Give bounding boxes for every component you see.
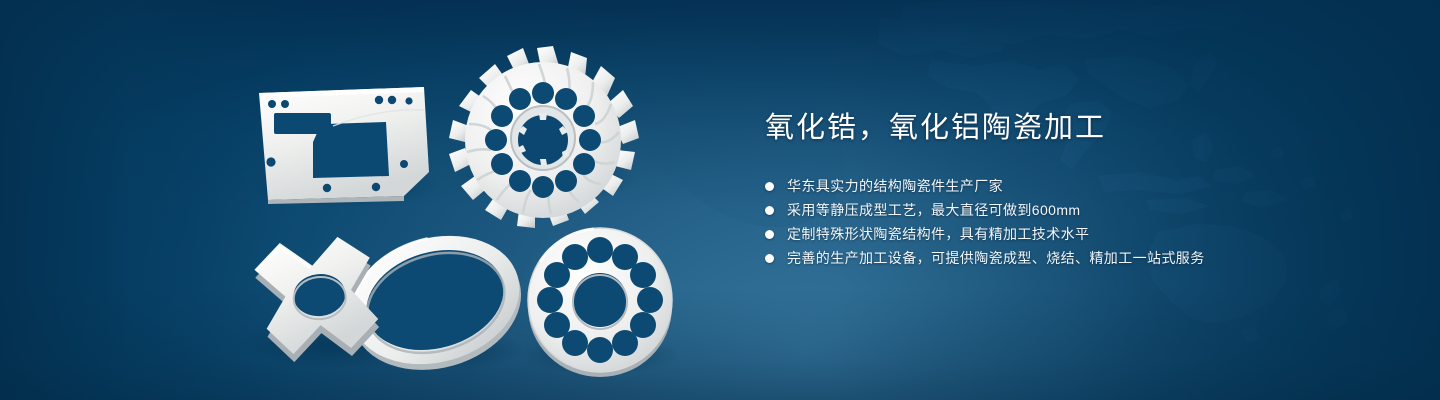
- ceramic-perforated-disc-part: [528, 228, 672, 377]
- feature-text: 完善的生产加工设备，可提供陶瓷成型、烧结、精加工一站式服务: [787, 246, 1205, 270]
- ceramic-impeller-part: [449, 46, 639, 228]
- ceramic-plate-part: [259, 87, 429, 204]
- bullet-dot-icon: [765, 230, 774, 239]
- feature-text: 定制特殊形状陶瓷结构件，具有精加工技术水平: [787, 222, 1089, 246]
- banner-copy: 氧化锆，氧化铝陶瓷加工 华东具实力的结构陶瓷件生产厂家 采用等静压成型工艺，最大…: [765, 108, 1385, 270]
- list-item: 完善的生产加工设备，可提供陶瓷成型、烧结、精加工一站式服务: [765, 246, 1385, 270]
- list-item: 华东具实力的结构陶瓷件生产厂家: [765, 174, 1385, 198]
- list-item: 定制特殊形状陶瓷结构件，具有精加工技术水平: [765, 222, 1385, 246]
- feature-text: 华东具实力的结构陶瓷件生产厂家: [787, 174, 1003, 198]
- list-item: 采用等静压成型工艺，最大直径可做到600mm: [765, 198, 1385, 222]
- bullet-dot-icon: [765, 206, 774, 215]
- promo-banner: 氧化锆，氧化铝陶瓷加工 华东具实力的结构陶瓷件生产厂家 采用等静压成型工艺，最大…: [0, 0, 1440, 400]
- feature-text: 采用等静压成型工艺，最大直径可做到600mm: [787, 198, 1080, 222]
- bullet-dot-icon: [765, 182, 774, 191]
- bullet-dot-icon: [765, 254, 774, 263]
- feature-list: 华东具实力的结构陶瓷件生产厂家 采用等静压成型工艺，最大直径可做到600mm 定…: [765, 174, 1385, 270]
- banner-headline: 氧化锆，氧化铝陶瓷加工: [765, 108, 1385, 148]
- ceramic-parts-photo: [0, 0, 720, 400]
